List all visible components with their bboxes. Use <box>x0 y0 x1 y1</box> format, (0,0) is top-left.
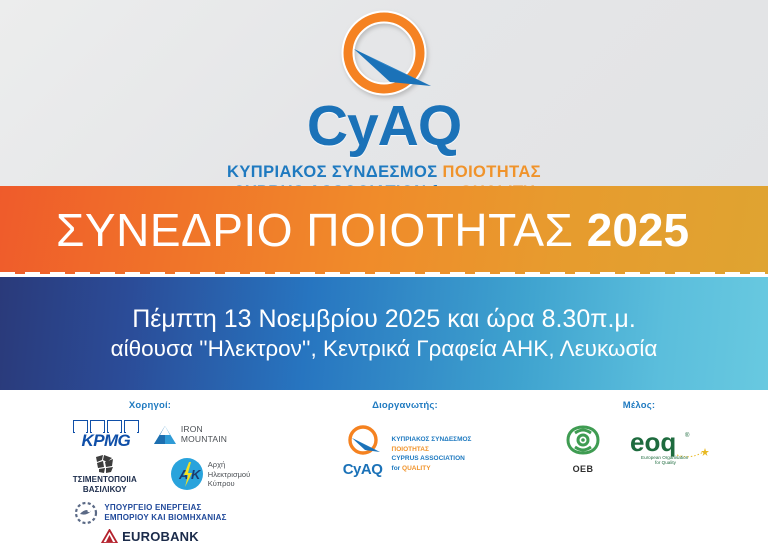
cyaq-small-wordmark: CyAQ <box>339 462 387 477</box>
sponsor-logo-ministry: ΥΠΟΥΡΓΕΙΟ ΕΝΕΡΓΕΙΑΣ ΕΜΠΟΡΙΟΥ ΚΑΙ ΒΙΟΜΗΧΑ… <box>73 501 226 525</box>
cyaq-small-line1: ΚΥΠΡΙΑΚΟΣ ΣΥΝΔΕΣΜΟΣ <box>392 435 472 444</box>
ministry-wordmark: ΥΠΟΥΡΓΕΙΟ ΕΝΕΡΓΕΙΑΣ ΕΜΠΟΡΙΟΥ ΚΑΙ ΒΙΟΜΗΧΑ… <box>104 503 226 523</box>
svg-text:®: ® <box>685 432 690 439</box>
tsimentopoiia-wordmark: ΤΣΙΜΕΝΤΟΠΟΙΙΑ ΒΑΣΙΛΙΚΟΥ <box>50 475 160 495</box>
svg-text:for Quality: for Quality <box>655 460 677 465</box>
member-heading: Μέλος: <box>510 400 768 411</box>
cyaq-small-line4-amber: QUALITY <box>402 465 431 472</box>
ministry-gear-icon <box>73 501 99 525</box>
organiser-heading: Διοργανωτής: <box>300 400 510 411</box>
organiser-logo-cyaq: CyAQ ΚΥΠΡΙΑΚΟΣ ΣΥΝΔΕΣΜΟΣ ΠΟΙΟΤΗΤΑΣ CYPRU… <box>300 423 510 477</box>
cyaq-small-line3: CYPRUS ASSOCIATION <box>392 454 472 463</box>
cyaq-small-line4: for QUALITY <box>392 464 472 473</box>
cyaq-small-mark: CyAQ <box>339 423 387 477</box>
subtitle-greek-amber: ΠΟΙΟΤΗΤΑΣ <box>443 163 541 181</box>
event-date-line: Πέμπτη 13 Νοεμβρίου 2025 και ώρα 8.30π.μ… <box>132 303 636 335</box>
kpmg-wordmark: KPMG <box>73 432 139 449</box>
ministry-line1: ΥΠΟΥΡΓΕΙΟ ΕΝΕΡΓΕΙΑΣ <box>104 503 226 513</box>
cyaq-wordmark: CyAQ <box>0 98 768 155</box>
sponsor-logo-iron-mountain: IRON MOUNTAIN <box>153 424 227 446</box>
ahk-line2: Ηλεκτρισμού <box>208 470 250 479</box>
ahk-line1: Αρχή <box>208 460 250 469</box>
event-venue-line: αίθουσα ''Ηλεκτρον'', Κεντρικά Γραφεία Α… <box>111 335 658 364</box>
cyaq-small-line2: ΠΟΙΟΤΗΤΑΣ <box>392 445 472 454</box>
iron-mountain-line2: MOUNTAIN <box>181 435 227 445</box>
ministry-line2: ΕΜΠΟΡΙΟΥ ΚΑΙ ΒΙΟΜΗΧΑΝΙΑΣ <box>104 513 226 523</box>
ahk-circle-icon: Α Κ <box>170 457 204 491</box>
svg-text:eoq: eoq <box>630 427 676 457</box>
eoq-wordmark-icon: eoq ® European Organisation for Quality <box>629 427 715 465</box>
ahk-wordmark: Αρχή Ηλεκτρισμού Κύπρου <box>208 460 250 488</box>
member-logo-eoq: eoq ® European Organisation for Quality <box>629 427 715 470</box>
subtitle-greek: ΚΥΠΡΙΑΚΟΣ ΣΥΝΔΕΣΜΟΣ ΠΟΙΟΤΗΤΑΣ <box>0 162 768 182</box>
cyaq-small-subtitle: ΚΥΠΡΙΑΚΟΣ ΣΥΝΔΕΣΜΟΣ ΠΟΙΟΤΗΤΑΣ CYPRUS ASS… <box>392 435 472 477</box>
eurobank-mark-icon <box>101 529 118 543</box>
ahk-line3: Κύπρου <box>208 479 250 488</box>
sponsor-logo-ahk: Α Κ Αρχή Ηλεκτρισμού Κύπρου <box>170 457 250 491</box>
page-title: ΣΥΝΕΔΡΙΟ ΠΟΙΟΤΗΤΑΣ 2025 <box>56 207 689 253</box>
tsimentopoiia-line2: ΒΑΣΙΛΙΚΟΥ <box>50 485 160 495</box>
date-venue-band: Πέμπτη 13 Νοεμβρίου 2025 και ώρα 8.30π.μ… <box>0 277 768 390</box>
cyaq-small-line4-pre: for <box>392 465 402 472</box>
iron-mountain-triangle-icon <box>153 424 177 446</box>
brand-lockup: CyAQ ΚΥΠΡΙΑΚΟΣ ΣΥΝΔΕΣΜΟΣ ΠΟΙΟΤΗΤΑΣ CYPRU… <box>0 8 768 202</box>
sponsors-heading: Χορηγοί: <box>0 400 300 411</box>
iron-mountain-wordmark: IRON MOUNTAIN <box>181 425 227 445</box>
cyaq-q-swoosh-small-icon <box>339 423 387 459</box>
sponsor-logo-tsimentopoiia: ΤΣΙΜΕΝΤΟΠΟΙΙΑ ΒΑΣΙΛΙΚΟΥ <box>50 454 160 495</box>
page-title-text: ΣΥΝΕΔΡΙΟ ΠΟΙΟΤΗΤΑΣ <box>56 204 587 256</box>
tsimentopoiia-mark-icon <box>50 454 160 474</box>
poster-footer: Χορηγοί: KPMG <box>0 390 768 543</box>
sponsor-logo-eurobank: EUROBANK <box>101 529 199 543</box>
eurobank-wordmark: EUROBANK <box>122 529 199 543</box>
cyaq-q-swoosh-icon <box>318 8 450 102</box>
oeb-label: OEB <box>563 464 603 474</box>
organiser-column: Διοργανωτής: CyAQ ΚΥΠΡΙΑΚΟΣ ΣΥΝΔΕΣΜΟΣ <box>300 400 510 543</box>
subtitle-greek-blue: ΚΥΠΡΙΑΚΟΣ ΣΥΝΔΕΣΜΟΣ <box>227 163 442 181</box>
member-logo-oeb: OEB <box>563 423 603 474</box>
dashed-divider <box>0 272 768 277</box>
title-band: ΣΥΝΕΔΡΙΟ ΠΟΙΟΤΗΤΑΣ 2025 <box>0 186 768 274</box>
oeb-knot-icon <box>563 423 603 457</box>
tsimentopoiia-line1: ΤΣΙΜΕΝΤΟΠΟΙΙΑ <box>50 475 160 485</box>
member-column: Μέλος: OEB <box>510 400 768 543</box>
poster-header: CyAQ ΚΥΠΡΙΑΚΟΣ ΣΥΝΔΕΣΜΟΣ ΠΟΙΟΤΗΤΑΣ CYPRU… <box>0 0 768 186</box>
page-title-year: 2025 <box>587 204 689 256</box>
conference-poster: CyAQ ΚΥΠΡΙΑΚΟΣ ΣΥΝΔΕΣΜΟΣ ΠΟΙΟΤΗΤΑΣ CYPRU… <box>0 0 768 543</box>
sponsors-column: Χορηγοί: KPMG <box>0 400 300 543</box>
svg-text:Κ: Κ <box>191 467 202 482</box>
sponsor-logo-kpmg: KPMG <box>73 420 139 449</box>
